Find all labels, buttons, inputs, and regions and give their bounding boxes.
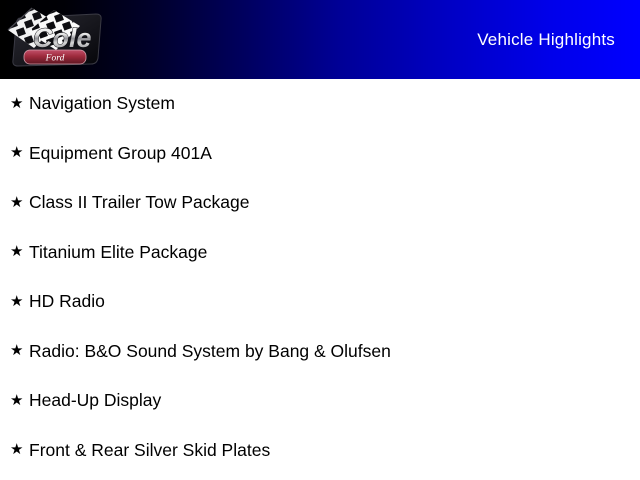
ford-badge: Ford: [24, 50, 86, 64]
list-item-label: Head-Up Display: [29, 390, 161, 411]
list-item-label: Class II Trailer Tow Package: [29, 192, 249, 213]
star-bullet-icon: ★: [10, 96, 29, 111]
star-bullet-icon: ★: [10, 343, 29, 358]
page-title: Vehicle Highlights: [477, 29, 615, 50]
star-bullet-icon: ★: [10, 145, 29, 160]
list-item: ★ Class II Trailer Tow Package: [0, 178, 640, 228]
list-item: ★ Navigation System: [0, 79, 640, 129]
list-item: ★ Equipment Group 401A: [0, 129, 640, 179]
star-bullet-icon: ★: [10, 442, 29, 457]
list-item: ★ Front & Rear Silver Skid Plates: [0, 426, 640, 476]
star-bullet-icon: ★: [10, 294, 29, 309]
star-bullet-icon: ★: [10, 195, 29, 210]
list-item-label: Front & Rear Silver Skid Plates: [29, 440, 270, 461]
list-item: ★ HD Radio: [0, 277, 640, 327]
ford-badge-label: Ford: [45, 54, 65, 64]
star-bullet-icon: ★: [10, 393, 29, 408]
list-item: ★ Titanium Elite Package: [0, 228, 640, 278]
list-item-label: HD Radio: [29, 291, 105, 312]
logo-wordmark: Cole: [33, 23, 92, 53]
highlights-content: ★ Navigation System ★ Equipment Group 40…: [0, 79, 640, 480]
list-item: ★ Head-Up Display: [0, 376, 640, 426]
page-header: Cole Ford Vehicle Highlights: [0, 0, 640, 79]
list-item: ★ Radio: B&O Sound System by Bang & Oluf…: [0, 327, 640, 377]
list-item-label: Navigation System: [29, 93, 175, 114]
list-item-label: Titanium Elite Package: [29, 242, 207, 263]
logo-artwork: Cole Ford: [2, 2, 114, 76]
list-item-label: Equipment Group 401A: [29, 143, 212, 164]
cole-ford-logo[interactable]: Cole Ford: [2, 2, 114, 76]
star-bullet-icon: ★: [10, 244, 29, 259]
vehicle-highlights-list: ★ Navigation System ★ Equipment Group 40…: [0, 79, 640, 475]
vehicle-highlights-page: Cole Ford Vehicle Highlights ★ Navigatio…: [0, 0, 640, 480]
list-item-label: Radio: B&O Sound System by Bang & Olufse…: [29, 341, 391, 362]
